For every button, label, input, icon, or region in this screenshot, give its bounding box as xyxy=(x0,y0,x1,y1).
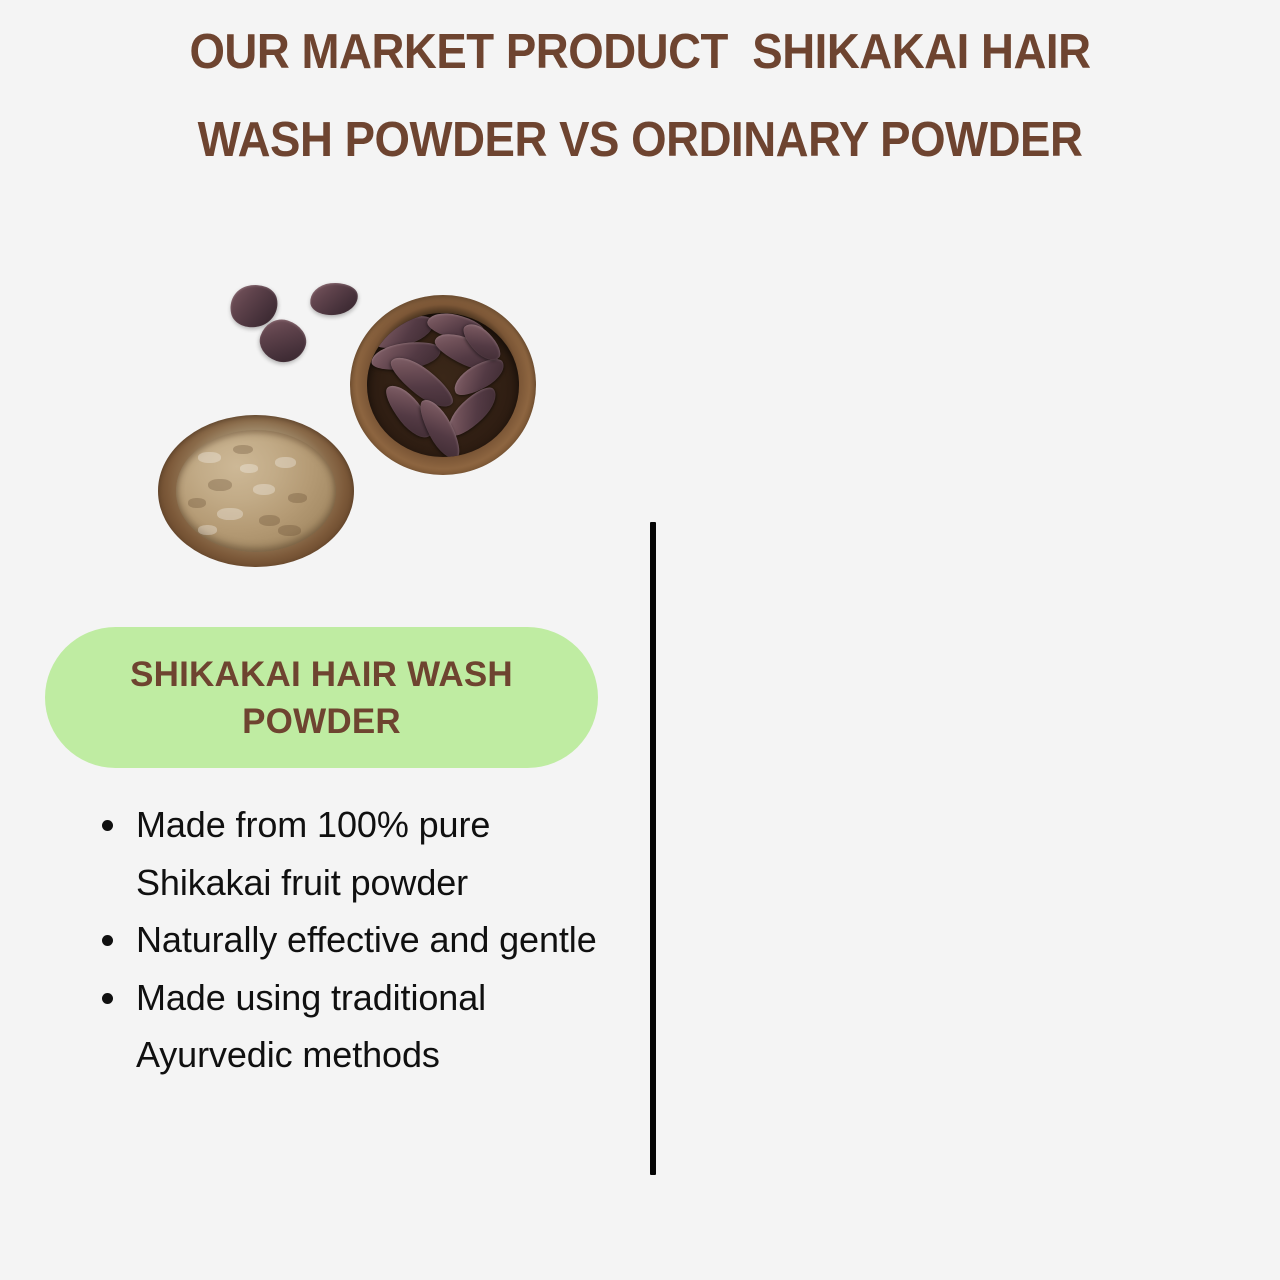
shikakai-pod-icon xyxy=(308,281,359,318)
right-column: ORDINARY POWDER May contain bark, filler… xyxy=(656,0,1280,1280)
bowl-pods-interior xyxy=(367,313,520,457)
infographic-canvas: OUR MARKET PRODUCT SHIKAKAI HAIR WASH PO… xyxy=(0,0,1280,1280)
left-badge-line-1: SHIKAKAI HAIR WASH xyxy=(130,651,513,698)
bowl-of-shikakai-pods xyxy=(350,295,536,475)
left-column: SHIKAKAI HAIR WASH POWDER Made from 100%… xyxy=(0,0,650,1280)
bowl-powder-interior xyxy=(176,430,337,552)
list-item: Made using traditional Ayurvedic methods xyxy=(92,969,612,1084)
shikakai-bowls-image xyxy=(150,265,550,570)
left-badge-line-2: POWDER xyxy=(130,698,513,745)
left-product-badge: SHIKAKAI HAIR WASH POWDER xyxy=(45,627,598,768)
left-feature-list: Made from 100% pure Shikakai fruit powde… xyxy=(92,796,612,1084)
list-item: Made from 100% pure Shikakai fruit powde… xyxy=(92,796,612,911)
list-item: Naturally effective and gentle xyxy=(92,911,612,969)
bowl-of-shikakai-powder xyxy=(158,415,354,567)
